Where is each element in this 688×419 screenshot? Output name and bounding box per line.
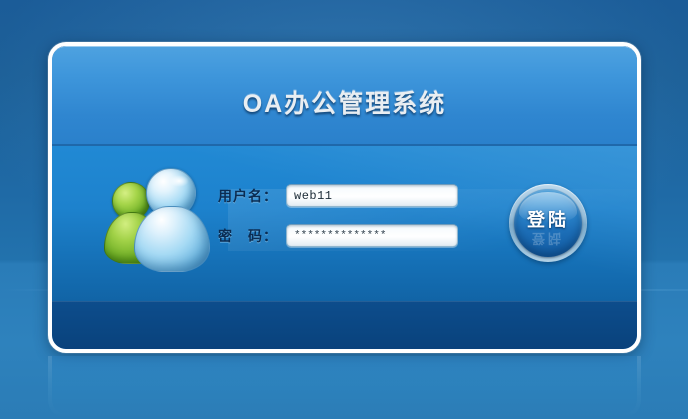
- login-button-core: 登陆 登陆: [514, 189, 582, 257]
- login-button[interactable]: 登陆 登陆: [509, 184, 587, 262]
- page-title: OA办公管理系统: [52, 84, 637, 120]
- login-button-label-reflection: 登陆: [514, 230, 582, 249]
- panel-footer: [52, 301, 637, 349]
- password-input[interactable]: [286, 224, 458, 247]
- login-screen: OA办公管理系统: [0, 0, 688, 419]
- panel-reflection-mirror: [48, 356, 641, 418]
- panel-header: OA办公管理系统: [52, 46, 637, 146]
- login-panel-frame: OA办公管理系统: [48, 42, 641, 353]
- password-field-row: 密 码：: [218, 224, 458, 247]
- panel-body: 用户名： 密 码： 登陆 登陆: [52, 146, 637, 301]
- login-panel-inner: OA办公管理系统: [52, 46, 637, 349]
- username-input[interactable]: [286, 184, 458, 207]
- username-field-row: 用户名：: [218, 184, 458, 207]
- panel-reflection-fade: [48, 356, 641, 418]
- password-label: 密 码：: [218, 226, 286, 246]
- login-panel: OA办公管理系统: [48, 42, 641, 353]
- panel-reflection: [48, 356, 641, 418]
- username-label: 用户名：: [218, 186, 286, 206]
- login-button-label: 登陆: [527, 206, 569, 232]
- login-form: 用户名： 密 码： 登陆 登陆: [52, 146, 637, 301]
